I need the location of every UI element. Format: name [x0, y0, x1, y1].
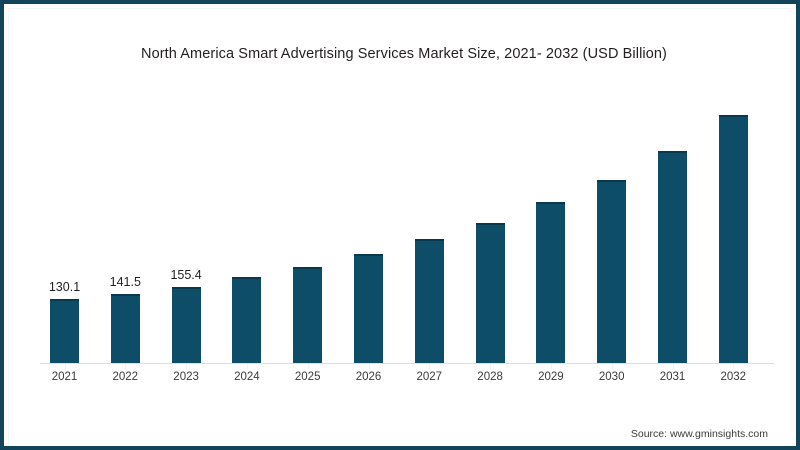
bar-2025[interactable]	[293, 95, 322, 364]
bar-value-label-2023: 155.4	[170, 268, 201, 282]
bar-2028[interactable]	[476, 95, 505, 364]
x-tick-2022	[125, 364, 126, 370]
x-axis-label-2030: 2030	[599, 371, 625, 383]
bar-rect-2030[interactable]	[597, 180, 626, 364]
x-axis-label-2026: 2026	[356, 371, 382, 383]
bar-2026[interactable]	[354, 95, 383, 364]
bar-2021[interactable]: 130.1	[50, 95, 79, 364]
x-tick-2029	[551, 364, 552, 370]
bar-2024[interactable]	[232, 95, 261, 364]
bar-value-label-2021: 130.1	[49, 280, 80, 294]
bar-rect-2032[interactable]	[719, 115, 748, 364]
x-axis-label-2032: 2032	[721, 371, 747, 383]
x-tick-2027	[429, 364, 430, 370]
bar-2029[interactable]	[536, 95, 565, 364]
x-tick-2031	[673, 364, 674, 370]
x-axis-label-2025: 2025	[295, 371, 321, 383]
bar-rect-2028[interactable]	[476, 223, 505, 364]
x-axis-label-2022: 2022	[113, 371, 139, 383]
bar-rect-2026[interactable]	[354, 254, 383, 364]
bar-rect-2022[interactable]	[111, 294, 140, 364]
bar-2027[interactable]	[415, 95, 444, 364]
x-tick-2026	[369, 364, 370, 370]
x-axis-label-2027: 2027	[417, 371, 443, 383]
x-tick-2024	[247, 364, 248, 370]
x-axis-label-2028: 2028	[477, 371, 503, 383]
bar-2030[interactable]	[597, 95, 626, 364]
bar-rect-2025[interactable]	[293, 267, 322, 364]
plot-area: 130.1141.5155.4	[40, 94, 770, 364]
bar-2031[interactable]	[658, 95, 687, 364]
chart-figure: North America Smart Advertising Services…	[0, 0, 800, 450]
x-axis-label-2031: 2031	[660, 371, 686, 383]
source-note: Source: www.gminsights.com	[631, 428, 768, 440]
x-axis-label-2024: 2024	[234, 371, 260, 383]
bar-2022[interactable]: 141.5	[111, 95, 140, 364]
x-tick-2023	[186, 364, 187, 370]
x-axis-label-2021: 2021	[52, 371, 78, 383]
bar-rect-2029[interactable]	[536, 202, 565, 364]
bar-rect-2023[interactable]	[172, 287, 201, 364]
bar-2032[interactable]	[719, 95, 748, 364]
chart-title: North America Smart Advertising Services…	[4, 46, 800, 62]
bar-rect-2021[interactable]	[50, 299, 79, 364]
bar-2023[interactable]: 155.4	[172, 95, 201, 364]
x-tick-2025	[308, 364, 309, 370]
x-tick-2021	[65, 364, 66, 370]
x-tick-2032	[733, 364, 734, 370]
bar-rect-2024[interactable]	[232, 277, 261, 364]
bar-rect-2031[interactable]	[658, 151, 687, 364]
bar-value-label-2022: 141.5	[110, 275, 141, 289]
x-axis-label-2029: 2029	[538, 371, 564, 383]
x-tick-2030	[612, 364, 613, 370]
bar-rect-2027[interactable]	[415, 239, 444, 364]
x-axis-label-2023: 2023	[173, 371, 199, 383]
x-tick-2028	[490, 364, 491, 370]
x-axis-line	[40, 363, 774, 364]
